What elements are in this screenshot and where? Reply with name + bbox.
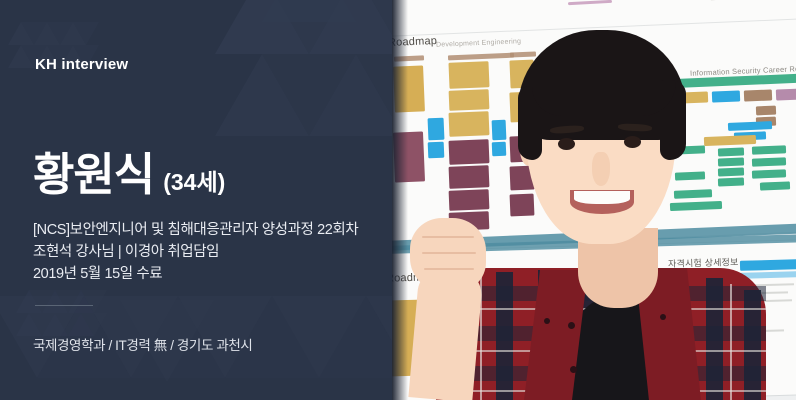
shirt-plaid-v8 [744, 290, 761, 400]
photo-left-shadow [392, 0, 408, 400]
wall-box-blue-1 [428, 118, 445, 141]
wall-box-rc-green-7 [674, 189, 712, 199]
wall-box-rc-green-3 [718, 157, 744, 166]
wall-box-blue-3 [492, 120, 507, 141]
pattern-triangle [356, 54, 392, 136]
wall-box-gold-3 [449, 89, 490, 111]
pattern-triangle [73, 22, 99, 45]
wall-box-rc-blue [712, 90, 740, 102]
wall-box-blue-4 [492, 142, 507, 157]
interviewee-photo: Roadmap Development Engineering Informat… [392, 0, 796, 400]
shirt-button-collar-right [660, 314, 666, 320]
pattern-triangle [366, 296, 392, 378]
wall-box-gold-2 [448, 61, 489, 89]
wall-box-blue-2 [428, 142, 445, 159]
wall-box-rc-green-2 [718, 147, 744, 156]
pattern-triangle [356, 0, 392, 54]
eyebrow-label: KH interview [35, 56, 128, 73]
course-details: [NCS]보안엔지니어 및 침해대응관리자 양성과정 22회차 조현석 강사님 … [33, 219, 358, 285]
shirt-plaid-white-v4 [730, 284, 732, 400]
wall-box-gold-4 [449, 111, 490, 137]
pattern-triangle [262, 0, 356, 22]
person-eye-right [624, 136, 641, 148]
wall-box-rc-green-10 [752, 157, 786, 166]
person-hair-fringe [532, 82, 676, 116]
person-nose [592, 152, 610, 186]
interviewee-age: (34세) [163, 171, 225, 194]
shirt-button-collar [544, 318, 550, 324]
person-teeth [574, 191, 630, 204]
wall-box-rc-green-5 [718, 177, 744, 186]
person-fist [410, 218, 486, 292]
wall-box-rc-brown [744, 89, 772, 101]
course-line-2: 조현석 강사님 | 이경아 취업담임 [33, 241, 358, 263]
wall-box-rc-green-4 [718, 167, 744, 176]
interview-banner: KH interview 황원식 (34세) [NCS]보안엔지니어 및 침해대… [0, 0, 796, 400]
course-line-1: [NCS]보안엔지니어 및 침해대응관리자 양성과정 22회차 [33, 219, 358, 241]
wall-box-maroon-8 [510, 194, 535, 217]
wall-box-rc-green-11 [752, 169, 786, 178]
divider-rule [35, 305, 93, 306]
shirt-button-2 [570, 366, 577, 373]
left-info-panel: KH interview 황원식 (34세) [NCS]보안엔지니어 및 침해대… [0, 0, 392, 400]
name-row: 황원식 (34세) [33, 152, 225, 197]
wall-box-rc-brown-2 [756, 106, 776, 116]
course-line-3: 2019년 5월 15일 수료 [33, 263, 358, 285]
wall-box-rc-green-12 [760, 181, 790, 190]
shirt-button-1 [568, 322, 575, 329]
person-knuckle-line-2 [422, 252, 476, 254]
background-meta: 국제경영학과 / IT경력 無 / 경기도 과천시 [33, 334, 252, 354]
wall-box-rc-purple [776, 88, 796, 100]
wall-box-maroon-2 [449, 139, 490, 165]
wall-box-detail-blue-hdr [740, 259, 796, 271]
person-knuckle-line-1 [422, 236, 474, 238]
wall-box-rc-green-9 [752, 145, 786, 154]
wall-box-maroon-4 [449, 189, 490, 211]
wall-box-rc-green-6 [675, 171, 705, 180]
person-eye-left [558, 138, 575, 150]
person-knuckle-line-3 [424, 268, 474, 270]
interviewee-name: 황원식 [33, 152, 154, 197]
wall-box-maroon-3 [449, 165, 490, 189]
